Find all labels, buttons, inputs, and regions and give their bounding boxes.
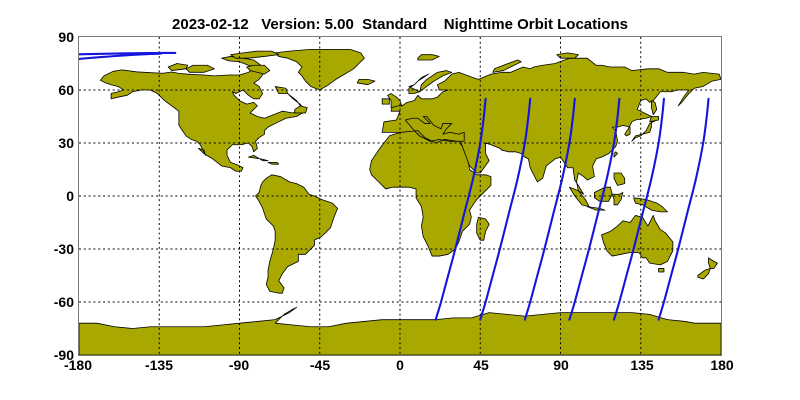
- x-tick-label-0: 0: [360, 358, 440, 372]
- page-title: 2023-02-12 Version: 5.00 Standard Nightt…: [0, 16, 800, 33]
- x-tick-label-135: 135: [602, 358, 682, 372]
- landmass-japan: [632, 118, 659, 141]
- landmass-cuba: [248, 155, 268, 160]
- landmass-australia: [602, 215, 673, 264]
- landmass-new-guinea: [634, 198, 668, 212]
- map-plot-area: [78, 36, 722, 356]
- x-tick-label-45: 45: [441, 358, 521, 372]
- landmass-north-america: [100, 56, 305, 171]
- landmass-south-america: [256, 175, 338, 293]
- landmass-newfoundland: [295, 106, 307, 113]
- landmass-greenland: [275, 49, 364, 90]
- y-tick-label-90: 90: [14, 30, 74, 44]
- orbit-map-figure: 2023-02-12 Version: 5.00 Standard Nightt…: [0, 0, 800, 400]
- landmass-java: [587, 207, 605, 211]
- landmass-sakhalin: [651, 101, 656, 115]
- landmass-hokkaido: [650, 117, 659, 122]
- x-tick-label-m180: -180: [38, 358, 118, 372]
- x-tick-label-m90: -90: [199, 358, 279, 372]
- x-tick-label-m45: -45: [280, 358, 360, 372]
- x-tick-label-m135: -135: [119, 358, 199, 372]
- landmass-madagascar: [477, 217, 489, 240]
- landmass-victoria: [186, 65, 215, 72]
- landmass-svalbard: [418, 55, 439, 60]
- landmass-iceland: [357, 79, 375, 84]
- landmass-new-zealand-n: [709, 258, 718, 269]
- landmass-tasmania: [659, 268, 664, 272]
- world-map-svg: [79, 37, 721, 355]
- landmass-hispaniola: [268, 162, 279, 164]
- y-tick-label-60: 60: [14, 83, 74, 97]
- y-tick-label-m60: -60: [14, 295, 74, 309]
- x-tick-label-90: 90: [521, 358, 601, 372]
- y-tick-label-0: 0: [14, 189, 74, 203]
- landmass-philippines: [614, 173, 625, 185]
- orbit-track-path-orbit-track-6: [659, 99, 709, 320]
- landmass-new-zealand-s: [698, 268, 710, 279]
- landmass-sulawesi: [612, 192, 623, 204]
- landmass-taiwan: [614, 152, 618, 157]
- y-tick-label-m30: -30: [14, 242, 74, 256]
- y-tick-label-30: 30: [14, 136, 74, 150]
- x-tick-label-180: 180: [682, 358, 762, 372]
- landmass-ellesmere: [231, 51, 279, 58]
- landmass-ireland: [382, 99, 389, 104]
- landmass-banks: [168, 64, 188, 71]
